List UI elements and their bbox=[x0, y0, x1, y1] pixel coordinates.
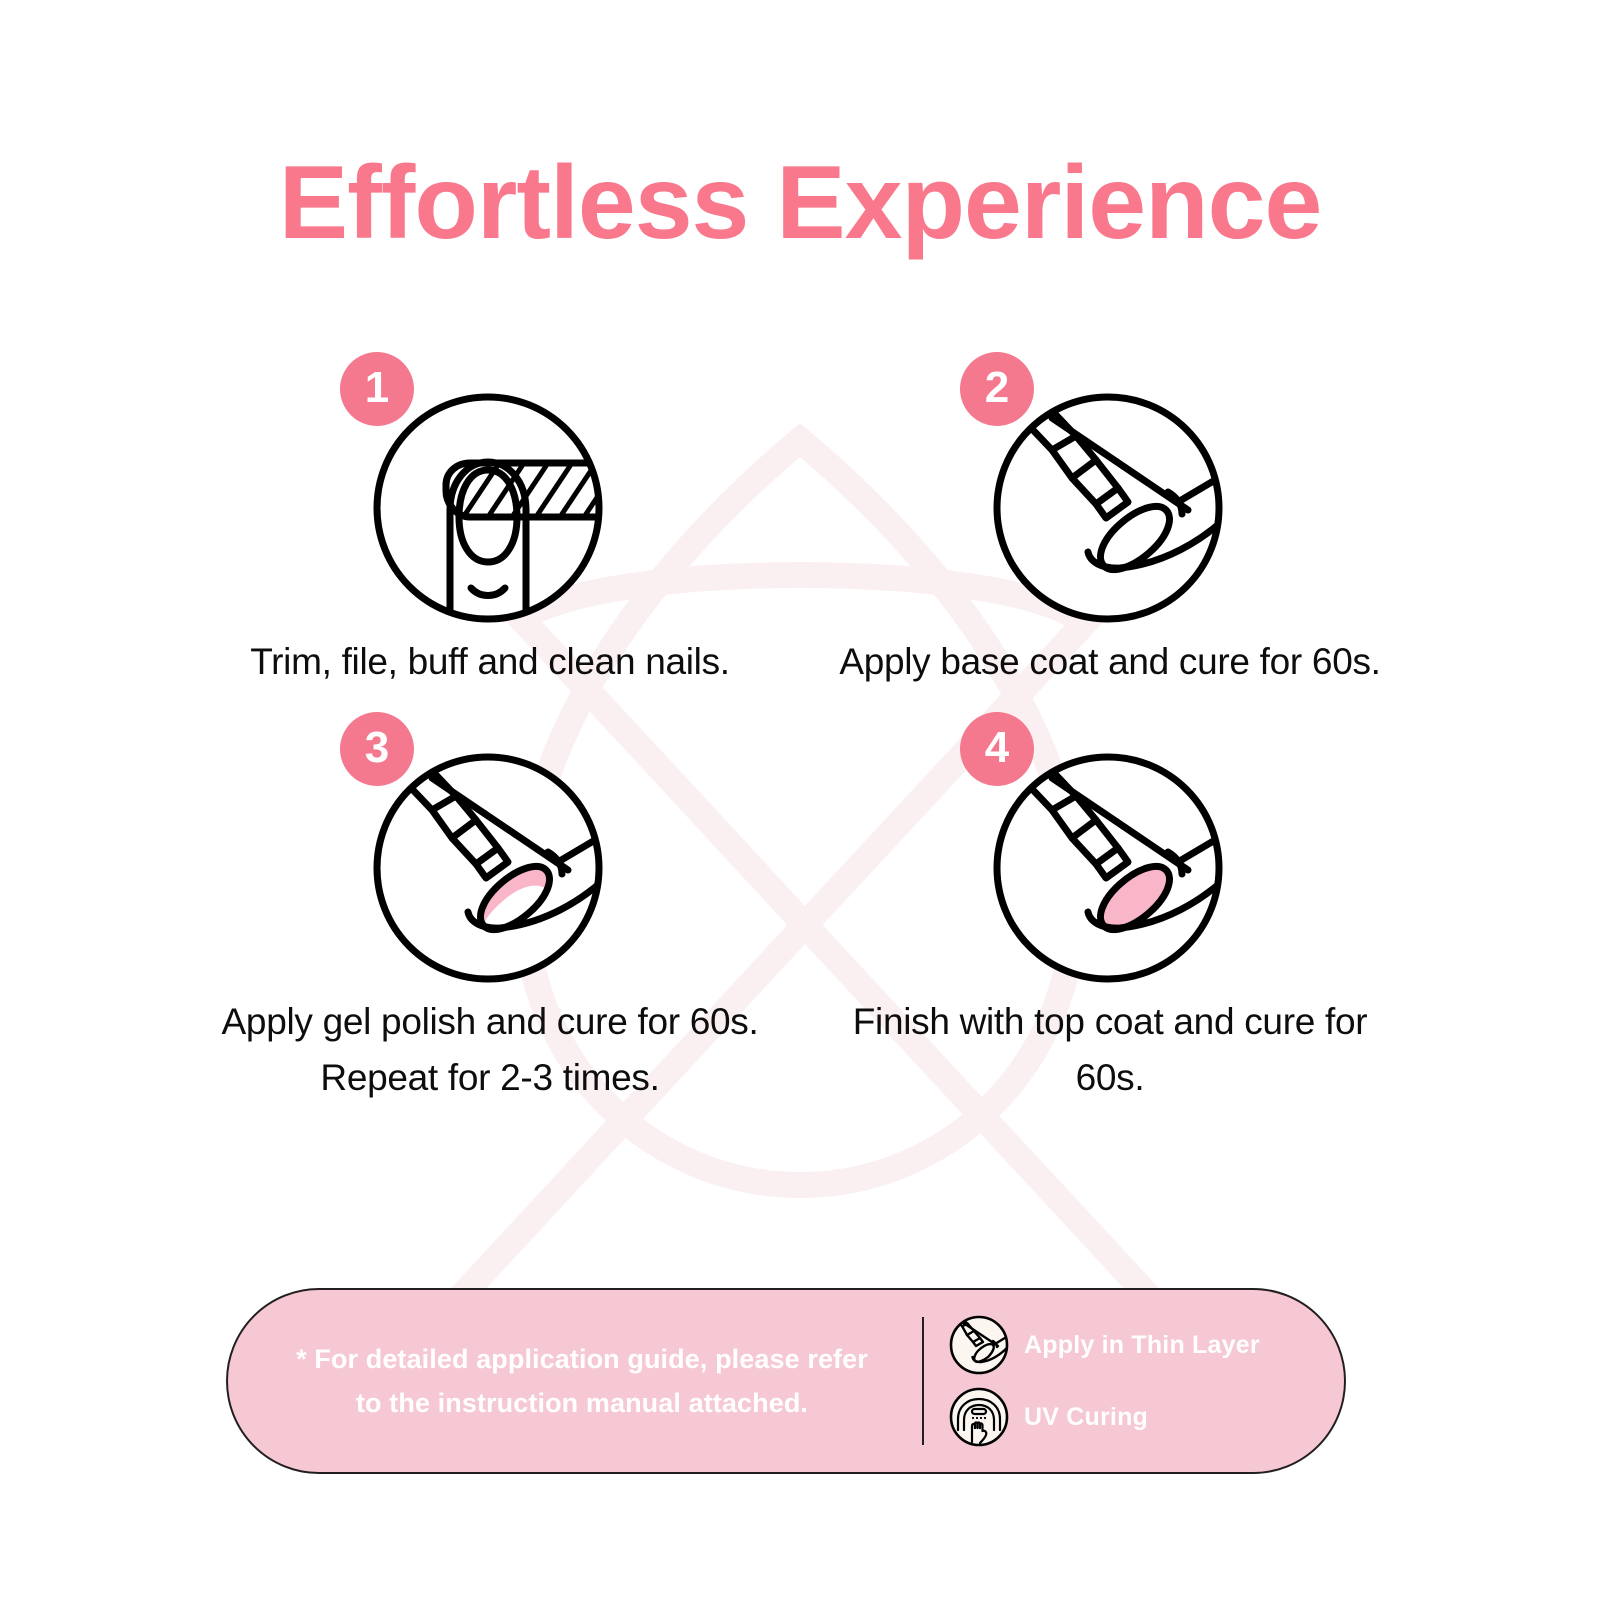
brush-applying-top-coat-icon bbox=[992, 752, 1224, 984]
brush-applying-gel-polish-icon bbox=[372, 752, 604, 984]
footer-note: * For detailed application guide, please… bbox=[228, 1337, 922, 1425]
step-1: 1 Trim, file, buff and clean nails. bbox=[180, 352, 800, 690]
step-3: 3 Apply gel polish and cure for 60s. Rep… bbox=[180, 690, 800, 1106]
footer-banner: * For detailed application guide, please… bbox=[226, 1288, 1346, 1474]
footer-icon-label-uv-curing: UV Curing bbox=[1024, 1403, 1148, 1432]
step-1-badge: 1 bbox=[340, 352, 414, 426]
step-4: 4 Finish with top coat and cure for 60s. bbox=[800, 690, 1420, 1106]
footer-note-line-1: * For detailed application guide, please… bbox=[242, 1337, 922, 1381]
footer-icon-list: Apply in Thin Layer bbox=[924, 1314, 1344, 1448]
step-2-badge: 2 bbox=[960, 352, 1034, 426]
footer-note-line-2: to the instruction manual attached. bbox=[242, 1381, 922, 1425]
nail-file-on-finger-icon bbox=[372, 392, 604, 624]
footer-icon-label-thin-layer: Apply in Thin Layer bbox=[1024, 1331, 1260, 1360]
steps-row-bottom: 3 Apply gel polish and cure for 60s. Rep… bbox=[180, 690, 1420, 1106]
thin-layer-brush-icon bbox=[948, 1314, 1010, 1376]
footer-icon-item-uv-curing: UV Curing bbox=[948, 1386, 1344, 1448]
brush-applying-base-coat-icon bbox=[992, 392, 1224, 624]
step-4-caption: Finish with top coat and cure for 60s. bbox=[800, 994, 1420, 1106]
step-3-badge: 3 bbox=[340, 712, 414, 786]
step-4-figure: 4 bbox=[960, 712, 1260, 982]
step-2-caption: Apply base coat and cure for 60s. bbox=[800, 634, 1420, 690]
step-3-figure: 3 bbox=[340, 712, 640, 982]
step-1-figure: 1 bbox=[340, 352, 640, 622]
infographic-page: Effortless Experience bbox=[0, 0, 1600, 1600]
step-2-figure: 2 bbox=[960, 352, 1260, 622]
steps-row-top: 1 Trim, file, buff and clean nails. bbox=[180, 352, 1420, 690]
step-2: 2 Apply base coat and cure for 60s. bbox=[800, 352, 1420, 690]
step-4-badge: 4 bbox=[960, 712, 1034, 786]
step-1-caption: Trim, file, buff and clean nails. bbox=[180, 634, 800, 690]
step-3-caption: Apply gel polish and cure for 60s. Repea… bbox=[180, 994, 800, 1106]
uv-lamp-curing-icon bbox=[948, 1386, 1010, 1448]
steps-grid: 1 Trim, file, buff and clean nails. bbox=[180, 352, 1420, 1106]
footer-icon-item-thin-layer: Apply in Thin Layer bbox=[948, 1314, 1344, 1376]
page-title: Effortless Experience bbox=[0, 148, 1600, 258]
